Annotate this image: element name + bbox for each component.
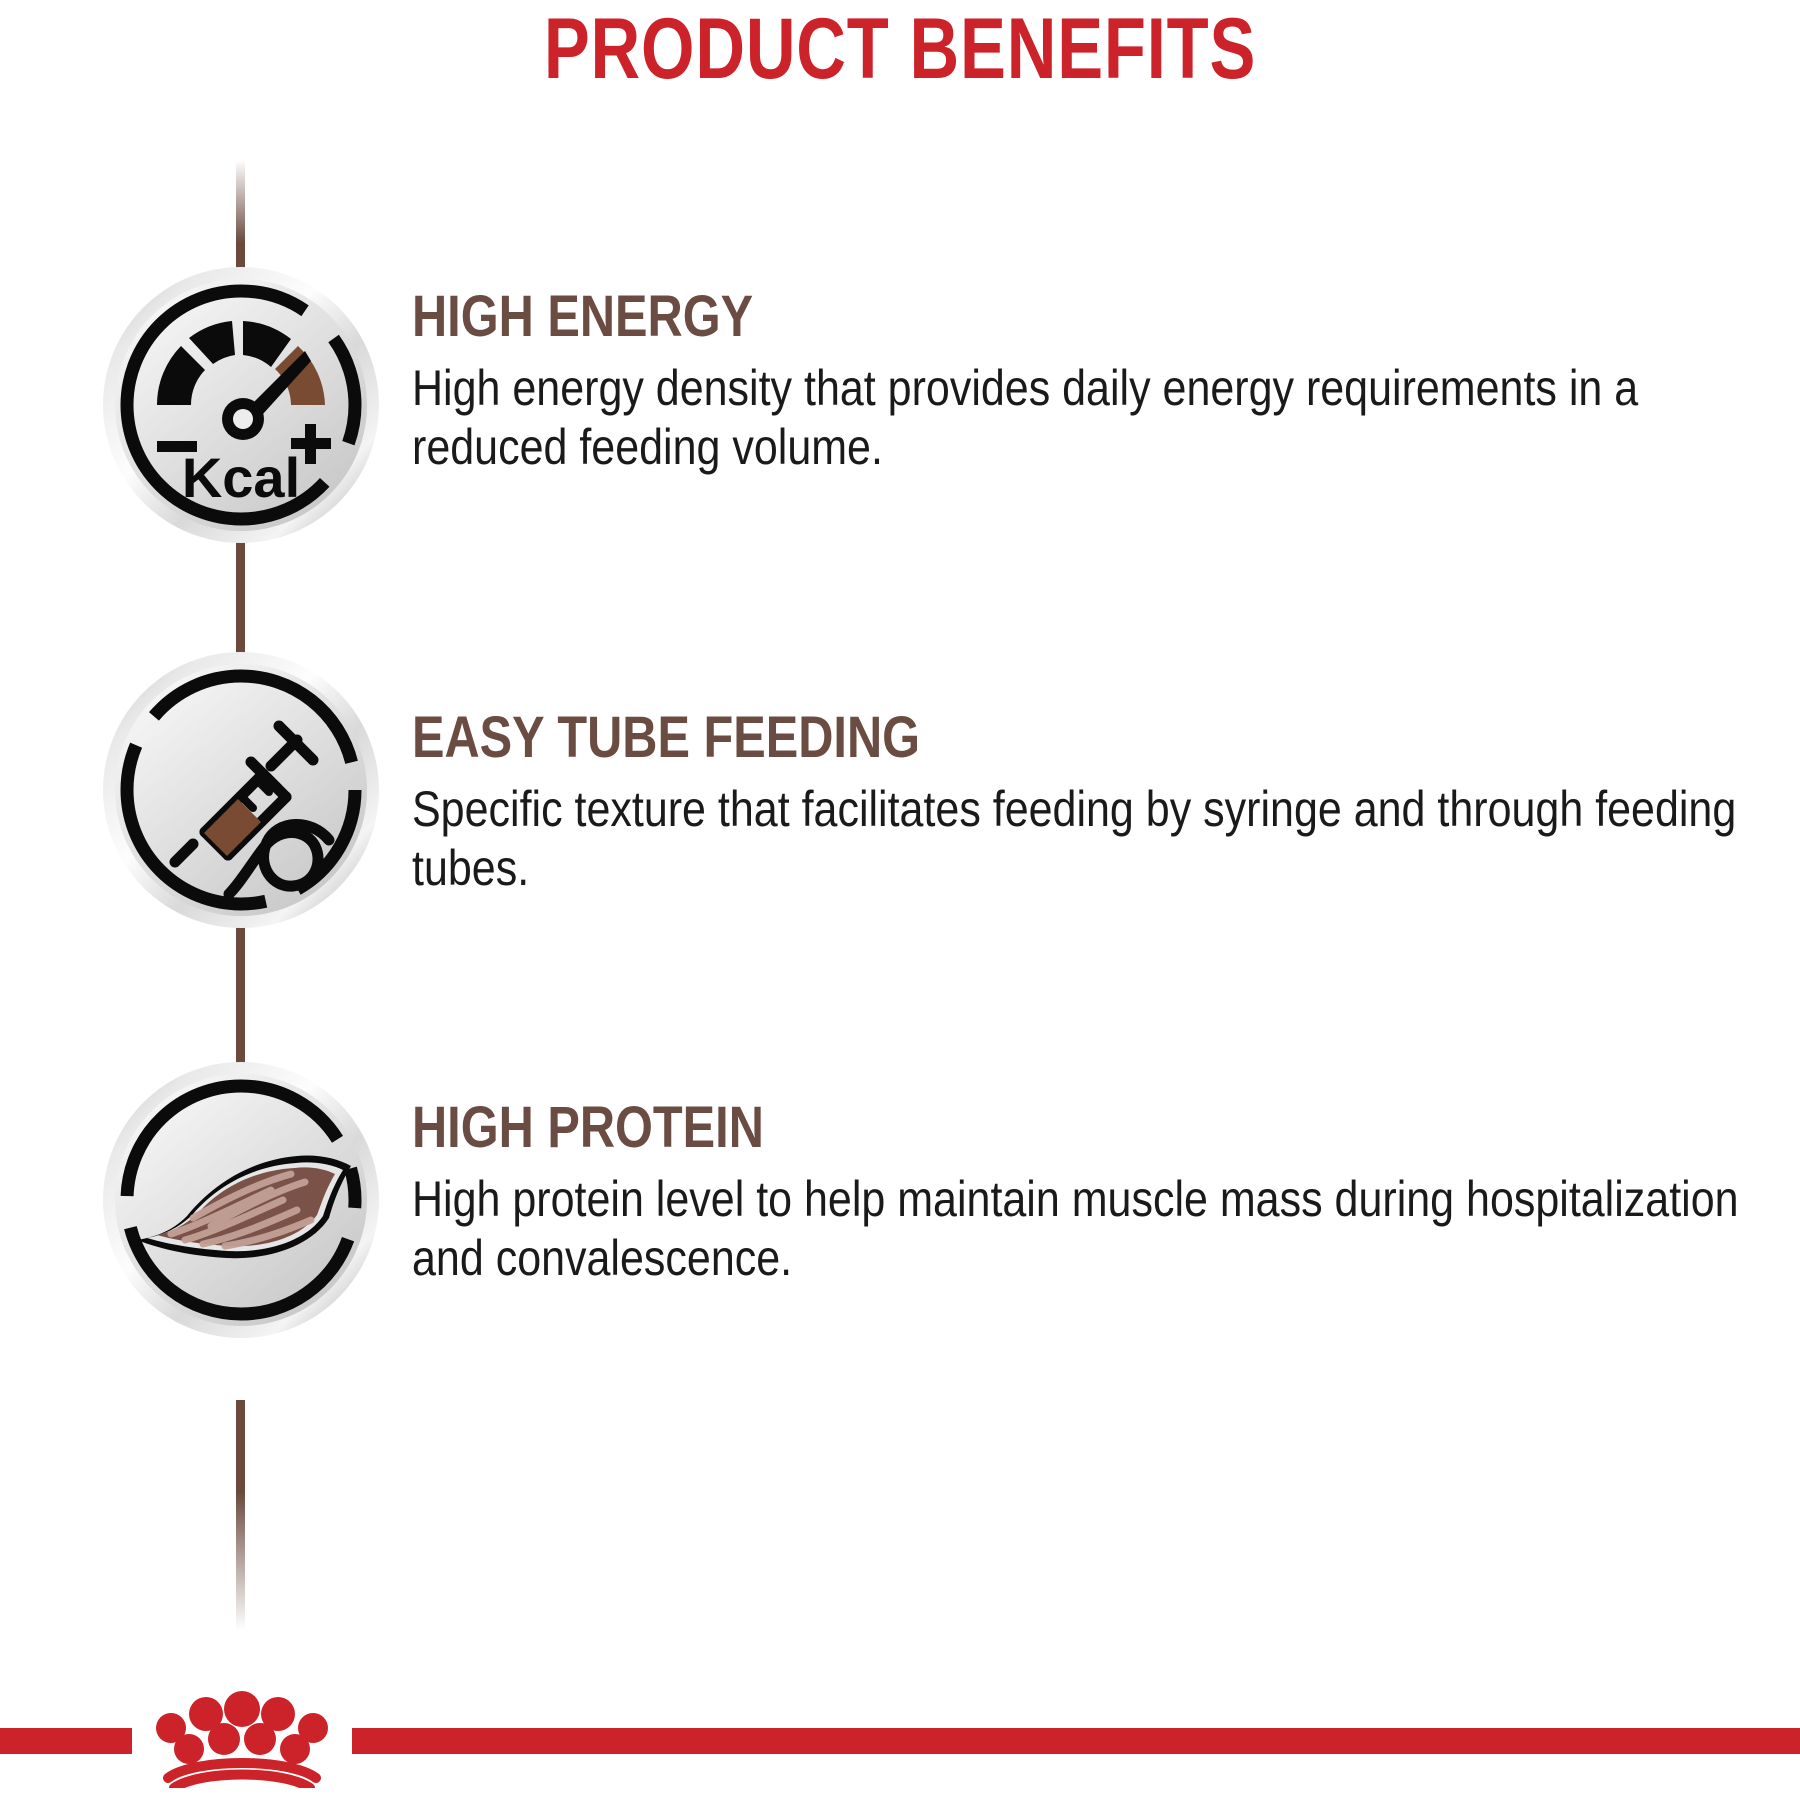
syringe-feeding-tube-icon [101, 650, 381, 930]
kcal-gauge-icon: Kcal [101, 265, 381, 545]
connector-line-bottom [236, 1400, 245, 1630]
benefit-heading: HIGH ENERGY [412, 287, 1529, 347]
benefit-heading: HIGH PROTEIN [412, 1098, 1529, 1158]
royal-canin-crown-logo [132, 1676, 352, 1788]
benefit-text-high-energy: HIGH ENERGY High energy density that pro… [412, 287, 1742, 477]
page-title: PRODUCT BENEFITS [180, 0, 1620, 92]
benefit-body: Specific texture that facilitates feedin… [412, 780, 1754, 898]
benefit-body: High protein level to help maintain musc… [412, 1170, 1754, 1288]
muscle-fiber-icon [101, 1060, 381, 1340]
footer [0, 1688, 1800, 1800]
footer-rule-right [352, 1728, 1800, 1754]
benefit-text-high-protein: HIGH PROTEIN High protein level to help … [412, 1098, 1742, 1288]
svg-text:Kcal: Kcal [182, 446, 300, 509]
benefit-body: High energy density that provides daily … [412, 359, 1754, 477]
footer-rule-left [0, 1728, 132, 1754]
benefit-heading: EASY TUBE FEEDING [412, 708, 1529, 768]
benefit-text-easy-tube-feeding: EASY TUBE FEEDING Specific texture that … [412, 708, 1742, 898]
